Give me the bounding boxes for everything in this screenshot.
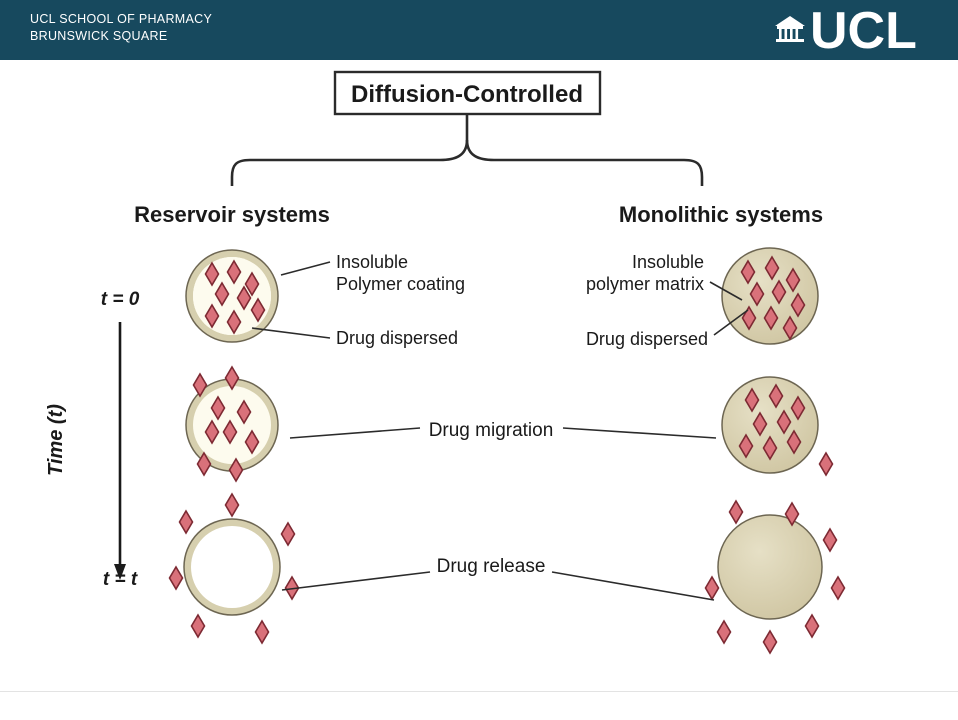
monolithic-capsule-row3 xyxy=(706,501,845,653)
ucl-logo: UCL xyxy=(765,4,940,58)
footer-divider xyxy=(0,691,958,692)
monolithic-capsule-row2 xyxy=(722,377,833,475)
slide-header: UCL SCHOOL OF PHARMACY BRUNSWICK SQUARE … xyxy=(0,0,958,60)
annotation-insoluble-polymer-matrix: Insoluble polymer matrix xyxy=(586,252,742,300)
column-heading-reservoir: Reservoir systems xyxy=(134,202,330,227)
ucl-portico-icon xyxy=(775,16,805,42)
time-label-end: t = t xyxy=(103,569,138,590)
annotation-drug-dispersed-monolithic-label: Drug dispersed xyxy=(586,329,708,349)
reservoir-capsule-row1 xyxy=(186,250,278,342)
header-title-line2: BRUNSWICK SQUARE xyxy=(30,28,212,45)
diffusion-controlled-diagram: Diffusion-Controlled Reservoir systems M… xyxy=(0,60,958,720)
bracket-connector xyxy=(232,114,702,186)
annotation-insoluble-polymer-coating-line1: Insoluble xyxy=(336,252,408,272)
header-title-line1: UCL SCHOOL OF PHARMACY xyxy=(30,11,212,28)
time-axis: Time (t) t = 0 t = t xyxy=(45,289,140,590)
annotation-insoluble-polymer-coating: Insoluble Polymer coating xyxy=(281,252,465,294)
annotation-drug-release: Drug release xyxy=(282,556,714,600)
ucl-logo-text: UCL xyxy=(810,4,917,58)
diagram-title: Diffusion-Controlled xyxy=(351,81,583,108)
annotation-insoluble-polymer-matrix-line2: polymer matrix xyxy=(586,274,704,294)
diagram-title-box: Diffusion-Controlled xyxy=(335,72,600,114)
reservoir-capsule-row2 xyxy=(186,367,278,481)
header-title-block: UCL SCHOOL OF PHARMACY BRUNSWICK SQUARE xyxy=(30,11,212,45)
time-axis-label: Time (t) xyxy=(45,404,67,476)
annotation-drug-release-label: Drug release xyxy=(437,556,546,577)
annotation-insoluble-polymer-coating-line2: Polymer coating xyxy=(336,274,465,294)
annotation-drug-dispersed-reservoir-label: Drug dispersed xyxy=(336,328,458,348)
annotation-drug-migration: Drug migration xyxy=(290,420,716,441)
time-label-start: t = 0 xyxy=(101,289,140,310)
column-heading-monolithic: Monolithic systems xyxy=(619,202,823,227)
reservoir-capsule-row3 xyxy=(170,494,299,643)
annotation-insoluble-polymer-matrix-line1: Insoluble xyxy=(632,252,704,272)
slide-body: Diffusion-Controlled Reservoir systems M… xyxy=(0,60,958,720)
annotation-drug-dispersed-monolithic: Drug dispersed xyxy=(586,310,748,349)
annotation-drug-dispersed-reservoir: Drug dispersed xyxy=(252,328,458,348)
annotation-drug-migration-label: Drug migration xyxy=(429,420,554,441)
